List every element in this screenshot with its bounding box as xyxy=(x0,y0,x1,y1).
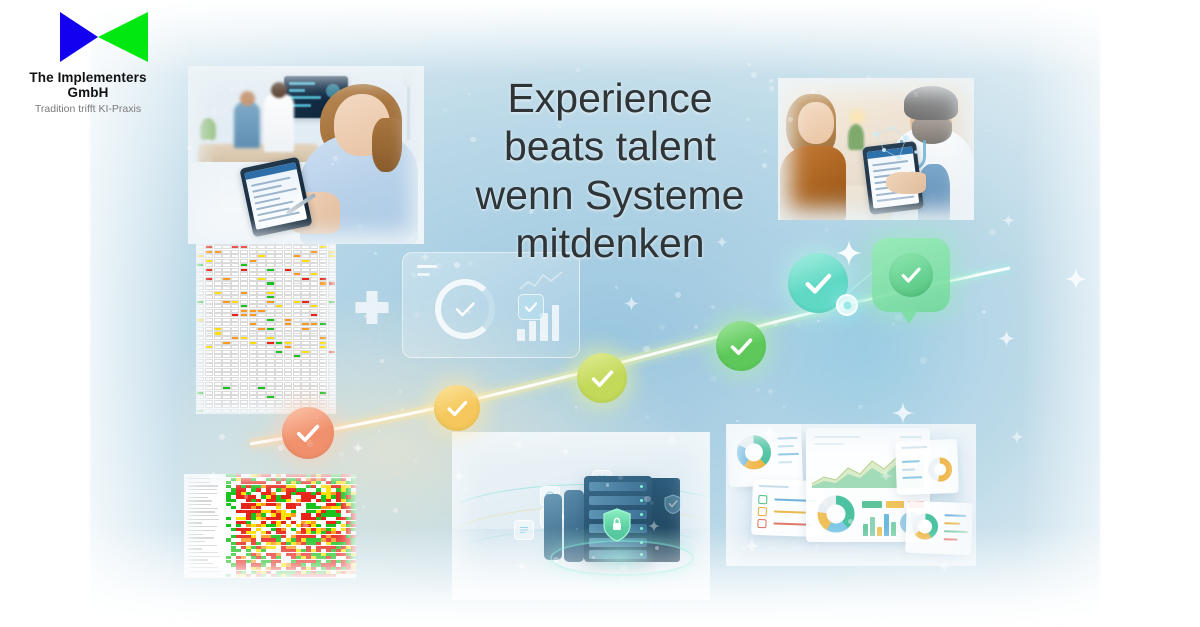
analytics-dashboard-photo xyxy=(726,424,976,566)
glass-metric-card xyxy=(402,252,580,358)
headline-line-2: beats talent xyxy=(400,122,820,170)
sparkline-icon xyxy=(519,269,563,295)
medical-plus-icon xyxy=(352,288,392,328)
dashboard-card-right-top xyxy=(895,439,959,495)
dashboard-card-donut-left xyxy=(727,424,803,487)
node-step-1 xyxy=(282,407,334,459)
risk-heatmap-photo xyxy=(184,474,356,578)
promo-banner: Experience beats talent wenn Systeme mit… xyxy=(0,0,1200,627)
mini-check-tile-icon xyxy=(518,294,544,320)
node-step-2 xyxy=(434,385,480,431)
dashboard-card-right-bottom xyxy=(905,501,973,555)
secondary-shield-icon xyxy=(664,494,682,514)
list-icon xyxy=(514,520,534,540)
heatmap-row-labels xyxy=(184,474,226,578)
page-title: Experience beats talent wenn Systeme mit… xyxy=(400,74,820,268)
node-connector-dot xyxy=(836,294,858,316)
security-shield-lock-icon xyxy=(602,508,632,542)
donut-chart-icon xyxy=(926,455,955,484)
bubble-check-icon xyxy=(889,253,933,297)
node-step-3 xyxy=(577,353,627,403)
company-name: The Implementers GmbH xyxy=(8,70,168,100)
bowtie-logo-icon xyxy=(30,8,170,66)
brand-logo-block[interactable]: The Implementers GmbH Tradition trifft K… xyxy=(8,8,184,115)
data-sparkle-icon xyxy=(866,122,926,166)
headline-line-1: Experience xyxy=(400,74,820,122)
node-final-approved-bubble xyxy=(872,238,950,312)
fmea-spreadsheet-photo xyxy=(196,236,336,414)
donut-chart-icon xyxy=(733,432,774,473)
heatmap-cells xyxy=(226,474,356,578)
circular-progress-check-icon xyxy=(435,279,495,339)
node-step-4 xyxy=(716,321,766,371)
donut-chart-icon xyxy=(814,492,858,536)
headline-line-4: mitdenken xyxy=(400,219,820,267)
headline-line-3: wenn Systeme xyxy=(400,171,820,219)
secure-server-infrastructure-photo xyxy=(452,432,710,600)
doctor-figure xyxy=(264,94,294,152)
card-subtitle-placeholder xyxy=(417,273,430,276)
company-tagline: Tradition trifft KI-Praxis xyxy=(8,103,168,115)
donut-chart-icon xyxy=(910,511,941,542)
patient-with-tablet-photo xyxy=(188,66,424,244)
nurse-figure xyxy=(234,102,260,148)
